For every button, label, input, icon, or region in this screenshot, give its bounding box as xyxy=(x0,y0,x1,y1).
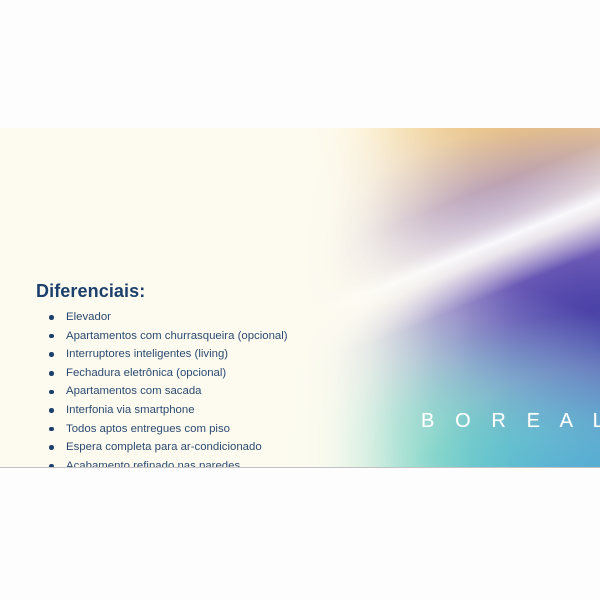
feature-content-column: Diferenciais: Elevador Apartamentos com … xyxy=(0,128,400,467)
list-item-label: Interfonia via smartphone xyxy=(66,404,195,416)
list-item-label: Fechadura eletrônica (opcional) xyxy=(66,367,226,379)
boreal-wordmark: B O R E A L xyxy=(418,411,586,431)
list-item: Elevador xyxy=(44,308,318,327)
list-item-label: Todos aptos entregues com piso xyxy=(66,423,230,435)
list-item-label: Acabamento refinado nas paredes xyxy=(66,460,240,468)
list-item: Espera completa para ar-condicionado xyxy=(44,438,318,457)
bullet-icon xyxy=(49,408,54,413)
boreal-feature-banner: B O R E A L Diferenciais: Elevador Apart… xyxy=(0,128,600,468)
list-item-label: Apartamentos com sacada xyxy=(66,385,202,397)
section-title: Diferenciais: xyxy=(36,282,145,300)
bullet-icon xyxy=(49,315,54,320)
list-item: Apartamentos com sacada xyxy=(44,382,318,401)
list-item: Acabamento refinado nas paredes xyxy=(44,457,318,468)
list-item-label: Elevador xyxy=(66,311,111,323)
list-item: Interfonia via smartphone xyxy=(44,401,318,420)
list-item-label: Apartamentos com churrasqueira (opcional… xyxy=(66,330,288,342)
feature-list: Elevador Apartamentos com churrasqueira … xyxy=(44,308,318,468)
bullet-icon xyxy=(49,371,54,376)
list-item-label: Interruptores inteligentes (living) xyxy=(66,348,228,360)
page-canvas: B O R E A L Diferenciais: Elevador Apart… xyxy=(0,0,600,600)
list-item-label: Espera completa para ar-condicionado xyxy=(66,441,262,453)
bullet-icon xyxy=(49,427,54,432)
list-item: Apartamentos com churrasqueira (opcional… xyxy=(44,327,318,346)
bullet-icon xyxy=(49,334,54,339)
bullet-icon xyxy=(49,464,54,468)
bullet-icon xyxy=(49,352,54,357)
list-item: Interruptores inteligentes (living) xyxy=(44,345,318,364)
list-item: Fechadura eletrônica (opcional) xyxy=(44,364,318,383)
bullet-icon xyxy=(49,445,54,450)
bullet-icon xyxy=(49,390,54,395)
list-item: Todos aptos entregues com piso xyxy=(44,420,318,439)
